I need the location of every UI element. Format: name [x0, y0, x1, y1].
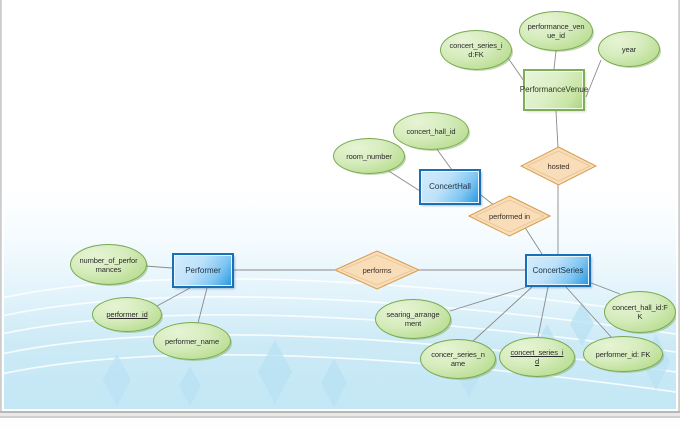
entity-performer[interactable]: Performer [172, 253, 234, 288]
attribute-label: number_of_performances [79, 256, 137, 274]
entity-label: Performer [185, 266, 221, 276]
connector-layer [4, 2, 676, 409]
window-bottom-border [0, 411, 680, 428]
attribute-searing-arrangement[interactable]: searing_arrangement [375, 299, 451, 339]
attribute-label: performer_name [165, 337, 219, 346]
entity-concert-series[interactable]: ConcertSeries [525, 254, 591, 287]
relationship-performs[interactable]: performs [334, 250, 420, 290]
attribute-concert-series-id-fk-pv[interactable]: concert_series_id:FK [440, 30, 512, 70]
entity-performance-venue[interactable]: PerformanceVenue [523, 69, 585, 111]
attribute-label: concert_hall_id:FK [612, 303, 667, 321]
attribute-label: room_number [346, 152, 392, 161]
attribute-concert-series-id[interactable]: concert_series_id [499, 337, 575, 377]
attribute-label: concert_series_id:FK [449, 41, 502, 59]
entity-label: PerformanceVenue [520, 85, 589, 95]
relationship-label: performs [334, 250, 420, 290]
attribute-performer-name[interactable]: performer_name [153, 322, 231, 360]
attribute-year[interactable]: year [598, 31, 660, 67]
attribute-concert-hall-id[interactable]: concert_hall_id [393, 112, 469, 150]
window-left-border [0, 0, 2, 413]
relationship-hosted[interactable]: hosted [520, 146, 597, 186]
attribute-performer-id-fk[interactable]: performer_id: FK [583, 336, 663, 372]
attribute-performance-venue-id[interactable]: performance_venue_id [519, 11, 593, 51]
entity-concert-hall[interactable]: ConcertHall [419, 169, 481, 205]
attribute-concer-series-name[interactable]: concer_series_name [420, 339, 496, 379]
attribute-label: performer_id [106, 310, 147, 319]
entity-label: ConcertHall [429, 182, 471, 192]
attribute-label: concert_hall_id [407, 127, 456, 136]
relationship-label: hosted [520, 146, 597, 186]
attribute-concert-hall-id-fk[interactable]: concert_hall_id:FK [604, 291, 676, 333]
diagram-canvas[interactable]: performance_venue_id concert_series_id:F… [4, 2, 676, 409]
attribute-room-number[interactable]: room_number [333, 138, 405, 174]
attribute-label: year [622, 45, 636, 54]
attribute-label: performance_venue_id [528, 22, 585, 40]
entity-label: ConcertSeries [533, 266, 584, 276]
attribute-label: concer_series_name [431, 350, 485, 368]
border-line-4 [0, 418, 680, 428]
attribute-performer-id[interactable]: performer_id [92, 297, 162, 332]
attribute-label: performer_id: FK [596, 350, 651, 359]
attribute-label: concert_series_id [510, 348, 563, 366]
attribute-number-of-performances[interactable]: number_of_performances [70, 244, 147, 285]
er-diagram-window: performance_venue_id concert_series_id:F… [0, 0, 680, 428]
attribute-label: searing_arrangement [386, 310, 439, 328]
